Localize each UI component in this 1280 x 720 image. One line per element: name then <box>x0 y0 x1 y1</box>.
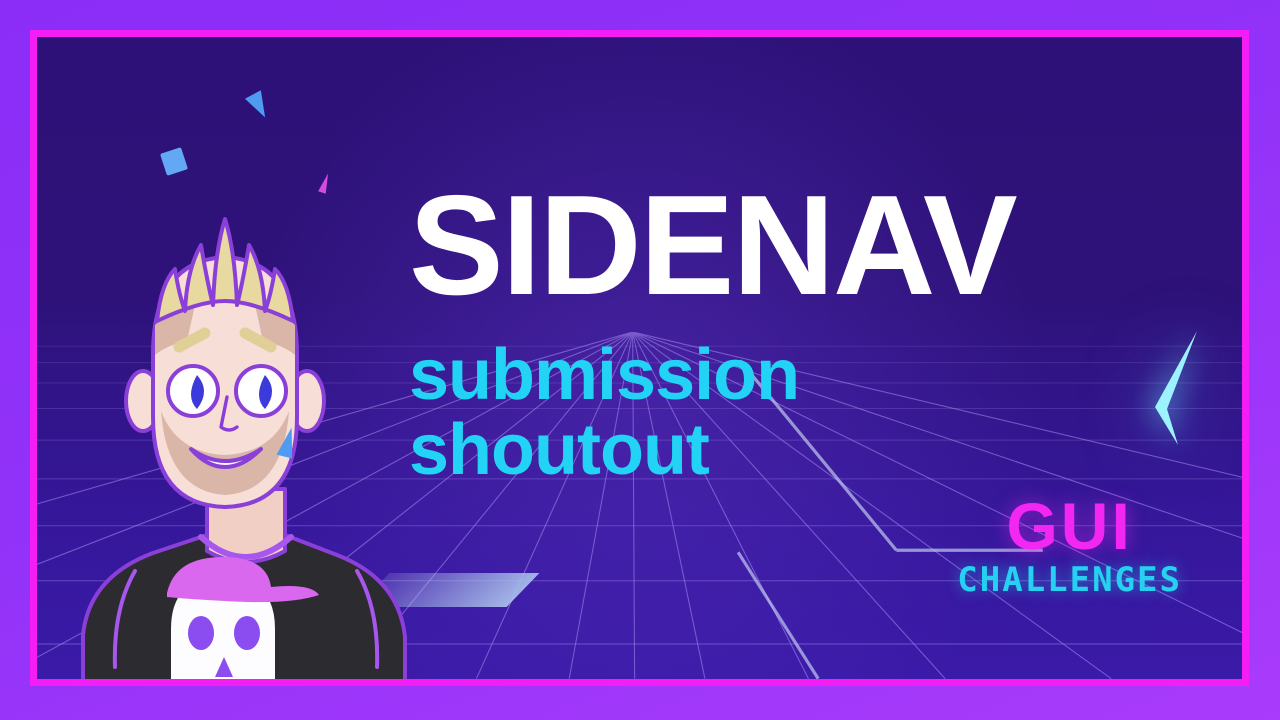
brand-primary-text: GUI <box>957 493 1182 559</box>
confetti-square-icon <box>160 147 188 176</box>
avatar <box>75 205 415 679</box>
confetti-triangle-top-icon <box>245 90 273 121</box>
page-title: SIDENAV <box>409 179 1016 314</box>
shard-glow-icon <box>1145 323 1207 447</box>
title-block: SIDENAV submission shoutout <box>409 179 1016 488</box>
shard-svg <box>1145 323 1207 447</box>
subtitle: submission shoutout <box>409 338 1016 488</box>
confetti-sliver-pink-icon <box>318 172 332 193</box>
avatar-svg <box>75 205 415 679</box>
stage-background: SIDENAV submission shoutout GUI CHALLENG… <box>37 37 1242 679</box>
brand-secondary-text: CHALLENGES <box>957 563 1182 597</box>
subtitle-line-2: shoutout <box>409 413 1016 488</box>
neon-frame: SIDENAV submission shoutout GUI CHALLENG… <box>30 30 1249 686</box>
video-thumbnail: SIDENAV submission shoutout GUI CHALLENG… <box>0 0 1280 720</box>
subtitle-line-1: submission <box>409 338 1016 413</box>
brand-logo: GUI CHALLENGES <box>957 493 1182 597</box>
